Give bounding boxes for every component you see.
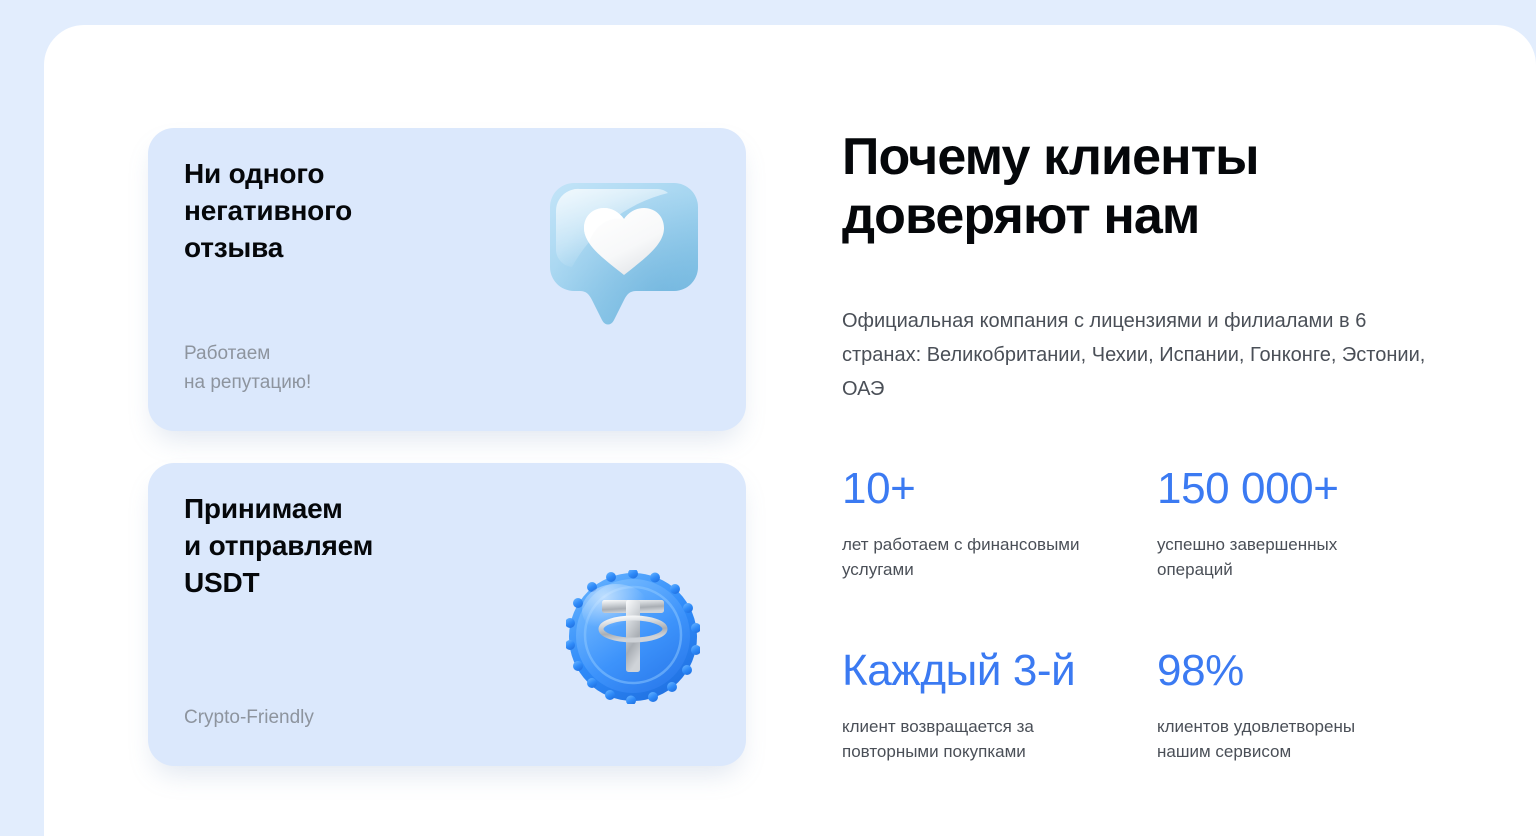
trust-section: Ни одного негативного отзыва bbox=[44, 25, 1536, 836]
stat-item-returning-clients: Каждый 3-й клиент возвращается за повтор… bbox=[842, 646, 1142, 764]
page-title: Почему клиенты доверяют нам bbox=[842, 128, 1442, 246]
stat-label: лет работаем с финансовыми услугами bbox=[842, 532, 1142, 582]
page-panel: Ни одного негативного отзыва bbox=[44, 25, 1536, 836]
intro-paragraph: Официальная компания с лицензиями и фили… bbox=[842, 304, 1432, 406]
stat-label: клиент возвращается за повторными покупк… bbox=[842, 714, 1142, 764]
stat-item-operations: 150 000+ успешно завершенных операций bbox=[1157, 464, 1457, 582]
feature-card-title: Ни одного негативного отзыва bbox=[184, 155, 352, 266]
feature-card-list: Ни одного негативного отзыва bbox=[148, 128, 746, 766]
stat-item-years: 10+ лет работаем с финансовыми услугами bbox=[842, 464, 1142, 582]
feature-card-reviews[interactable]: Ни одного негативного отзыва bbox=[148, 128, 746, 431]
stat-value: 150 000+ bbox=[1157, 464, 1457, 514]
trust-info-column: Почему клиенты доверяют нам Официальная … bbox=[842, 128, 1442, 764]
feature-card-note: Работаем на репутацию! bbox=[184, 339, 311, 397]
stat-label: клиентов удовлетворены нашим сервисом bbox=[1157, 714, 1457, 764]
stat-value: Каждый 3-й bbox=[842, 646, 1142, 696]
feature-card-note: Crypto-Friendly bbox=[184, 703, 314, 732]
feature-card-usdt[interactable]: Принимаем и отправляем USDT bbox=[148, 463, 746, 766]
stats-grid: 10+ лет работаем с финансовыми услугами … bbox=[842, 464, 1442, 764]
feature-card-title: Принимаем и отправляем USDT bbox=[184, 490, 373, 601]
stat-value: 10+ bbox=[842, 464, 1142, 514]
usdt-tether-coin-icon bbox=[566, 570, 700, 704]
stat-value: 98% bbox=[1157, 646, 1457, 696]
stat-label: успешно завершенных операций bbox=[1157, 532, 1457, 582]
stat-item-satisfaction: 98% клиентов удовлетворены нашим сервисо… bbox=[1157, 646, 1457, 764]
heart-speech-bubble-icon bbox=[540, 171, 708, 331]
